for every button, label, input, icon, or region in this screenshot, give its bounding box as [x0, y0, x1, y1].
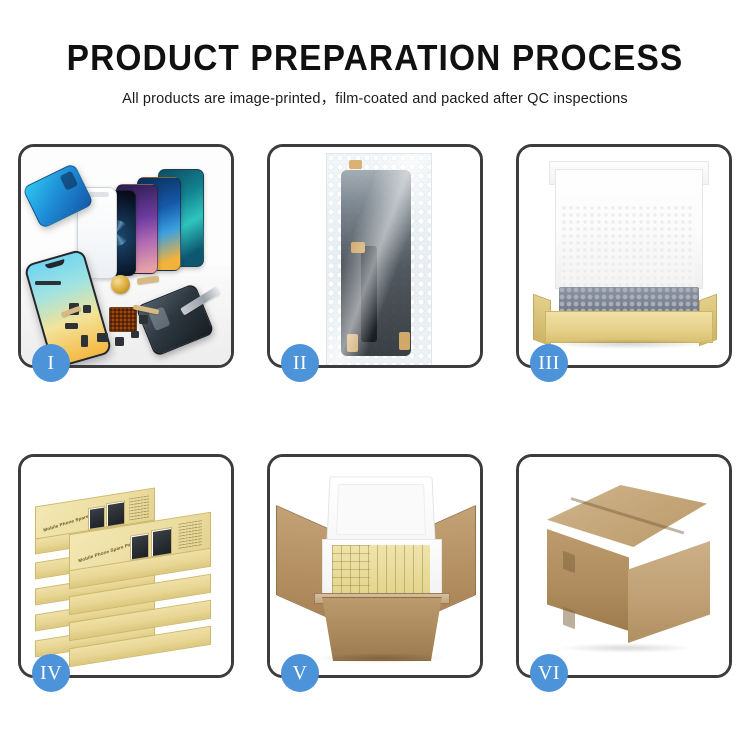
step-badge-5: V — [281, 654, 319, 692]
drop-shadow — [316, 653, 446, 663]
step-1-image — [21, 147, 231, 365]
carton-front-face — [547, 529, 629, 631]
component-chip — [115, 337, 124, 346]
step-badge-6: VI — [530, 654, 568, 692]
bubble-wrap-contents-icon — [559, 287, 699, 313]
page-title: PRODUCT PREPARATION PROCESS — [26, 38, 724, 78]
drop-shadow — [559, 643, 695, 653]
phone-parts-scene — [21, 147, 231, 365]
bubble-wrap-bag-icon — [326, 153, 432, 365]
carton-tape-patch — [563, 551, 575, 573]
component-chip — [139, 315, 148, 324]
carton-tape-patch — [563, 607, 575, 629]
open-foam-box-scene — [519, 147, 729, 365]
step-5-image — [270, 457, 480, 675]
component-chip — [35, 281, 61, 285]
page-subtitle: All products are image-printed，film-coat… — [11, 87, 739, 108]
header: PRODUCT PREPARATION PROCESS All products… — [0, 38, 750, 108]
box-screen-image — [151, 527, 172, 557]
box-spec-lines — [129, 495, 149, 520]
yellow-boxes-inside-icon — [332, 545, 430, 595]
component-chip — [81, 335, 88, 347]
step-badge-2: II — [281, 344, 319, 382]
contact-grid-component-icon — [109, 307, 137, 332]
step-badge-3: III — [530, 344, 568, 382]
process-step-panel-6: VI — [516, 454, 732, 678]
box-screen-image — [106, 500, 125, 527]
component-chip — [65, 323, 78, 329]
process-step-panel-4: Mobile Phone Spare Parts Mobile Phone Sp… — [18, 454, 234, 678]
speaker-component-icon — [111, 275, 130, 294]
box-spec-lines — [178, 520, 202, 550]
bubble-wrapped-screen-scene — [270, 147, 480, 365]
step-4-image: Mobile Phone Spare Parts Mobile Phone Sp… — [21, 457, 231, 675]
process-step-panel-1: I — [18, 144, 234, 368]
step-badge-4: IV — [32, 654, 70, 692]
component-chip — [83, 305, 91, 313]
process-step-panel-3: III — [516, 144, 732, 368]
process-step-grid: I II — [18, 144, 732, 684]
box-screen-image — [88, 505, 105, 530]
open-carton-scene — [270, 457, 480, 675]
step-2-image — [270, 147, 480, 365]
process-step-panel-2: II — [267, 144, 483, 368]
component-chip — [131, 331, 139, 338]
product-preparation-process-page: PRODUCT PREPARATION PROCESS All products… — [0, 0, 750, 750]
step-6-image — [519, 457, 729, 675]
stacked-boxes-scene: Mobile Phone Spare Parts Mobile Phone Sp… — [21, 457, 231, 675]
process-step-panel-5: V — [267, 454, 483, 678]
carton-side-face — [628, 541, 710, 643]
plastic-sheen — [327, 154, 431, 365]
foam-sheet-icon — [561, 205, 695, 287]
component-chip — [97, 333, 108, 342]
sealed-carton-scene — [519, 457, 729, 675]
drop-shadow — [549, 339, 707, 349]
carton-body-icon — [314, 597, 450, 661]
step-badge-1: I — [32, 344, 70, 382]
box-screen-image — [130, 533, 149, 561]
styrofoam-lid-icon — [326, 476, 435, 543]
step-3-image — [519, 147, 729, 365]
